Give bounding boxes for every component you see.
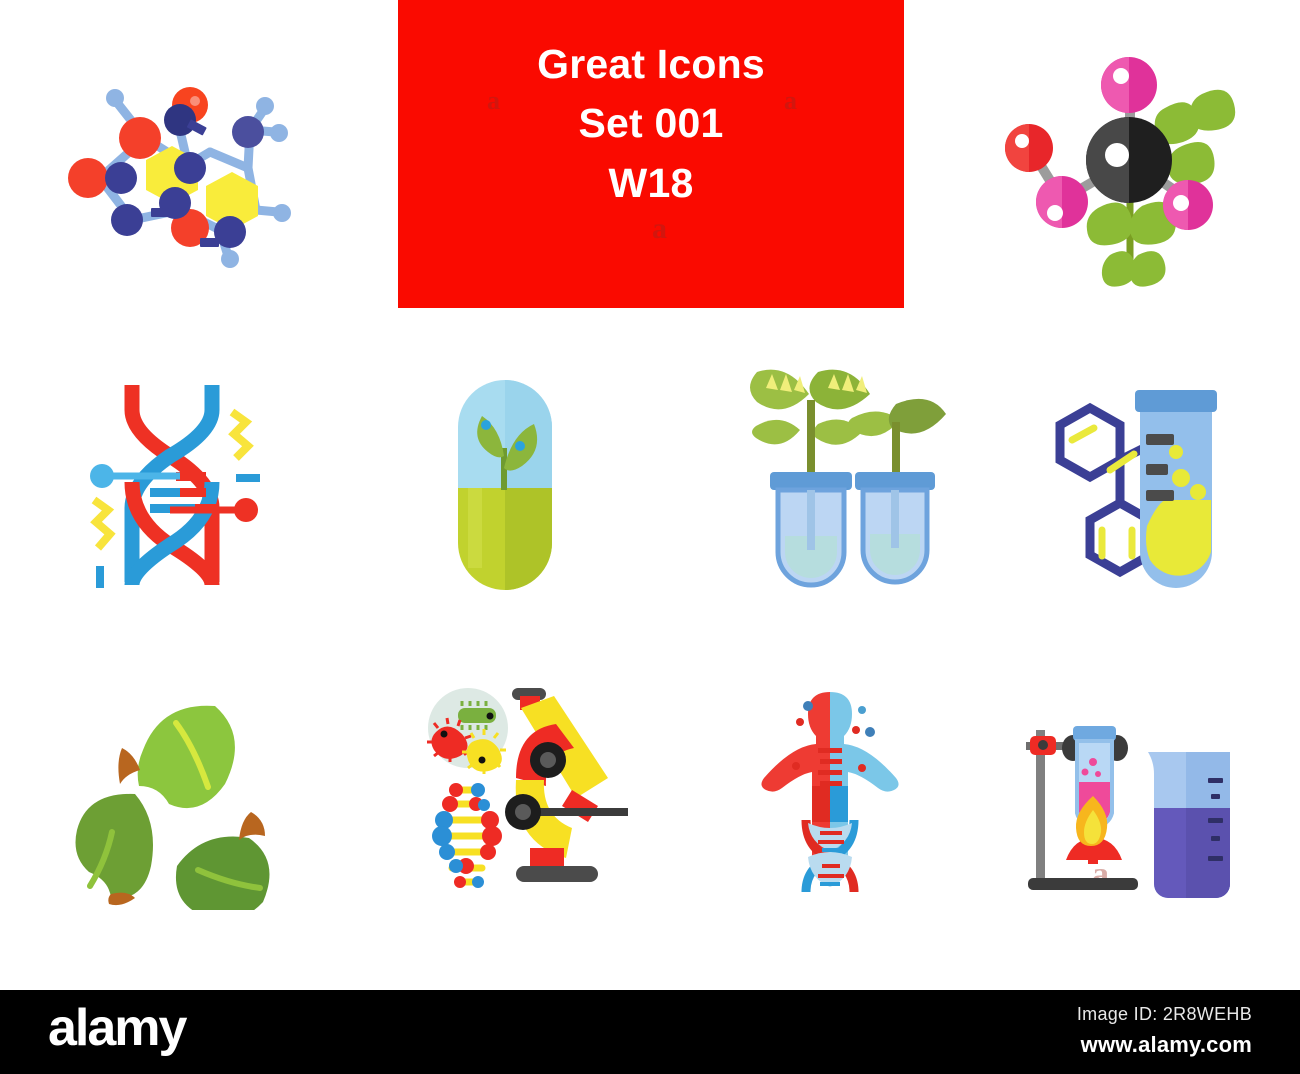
icon-cell-dna-helix[interactable]: DNA double helix: [80, 370, 270, 600]
title-banner: Great Icons Set 001 W18: [398, 0, 904, 308]
banner-line-3: W18: [609, 154, 694, 213]
alamy-logo: alamy: [48, 1002, 185, 1054]
icon-cell-microscope-dna[interactable]: Microscope with microbes and DNA: [420, 680, 630, 910]
icon-cell-leaf-recycle[interactable]: Leaf recycling symbol: [55, 690, 305, 910]
icon-cell-test-tube-plants[interactable]: Plants in test tubes: [700, 360, 950, 600]
icon-cell-capsule-plant[interactable]: Capsule with sprout: [440, 370, 570, 600]
image-id-text: Image ID: 2R8WEHB: [1077, 1004, 1252, 1025]
icon-cell-molecule-plant[interactable]: Molecule with leaves: [990, 50, 1240, 300]
website-text: www.alamy.com: [1081, 1032, 1252, 1058]
banner-line-2: Set 001: [578, 94, 723, 153]
icon-cell-chemistry-tube[interactable]: Benzene rings and test tube: [1010, 370, 1240, 600]
banner-line-1: Great Icons: [537, 35, 765, 94]
icon-cell-human-dna[interactable]: Human figure over DNA: [730, 690, 930, 910]
icon-cell-molecule-structure[interactable]: Molecule structure: [60, 60, 310, 290]
icon-set-poster: Great Icons Set 001 W18 a a a a a Molecu…: [0, 0, 1300, 1074]
alamy-footer-bar: alamy Image ID: 2R8WEHB www.alamy.com: [0, 990, 1300, 1074]
icon-cell-lab-burner-beaker[interactable]: Burner stand and beaker: [1000, 700, 1240, 910]
